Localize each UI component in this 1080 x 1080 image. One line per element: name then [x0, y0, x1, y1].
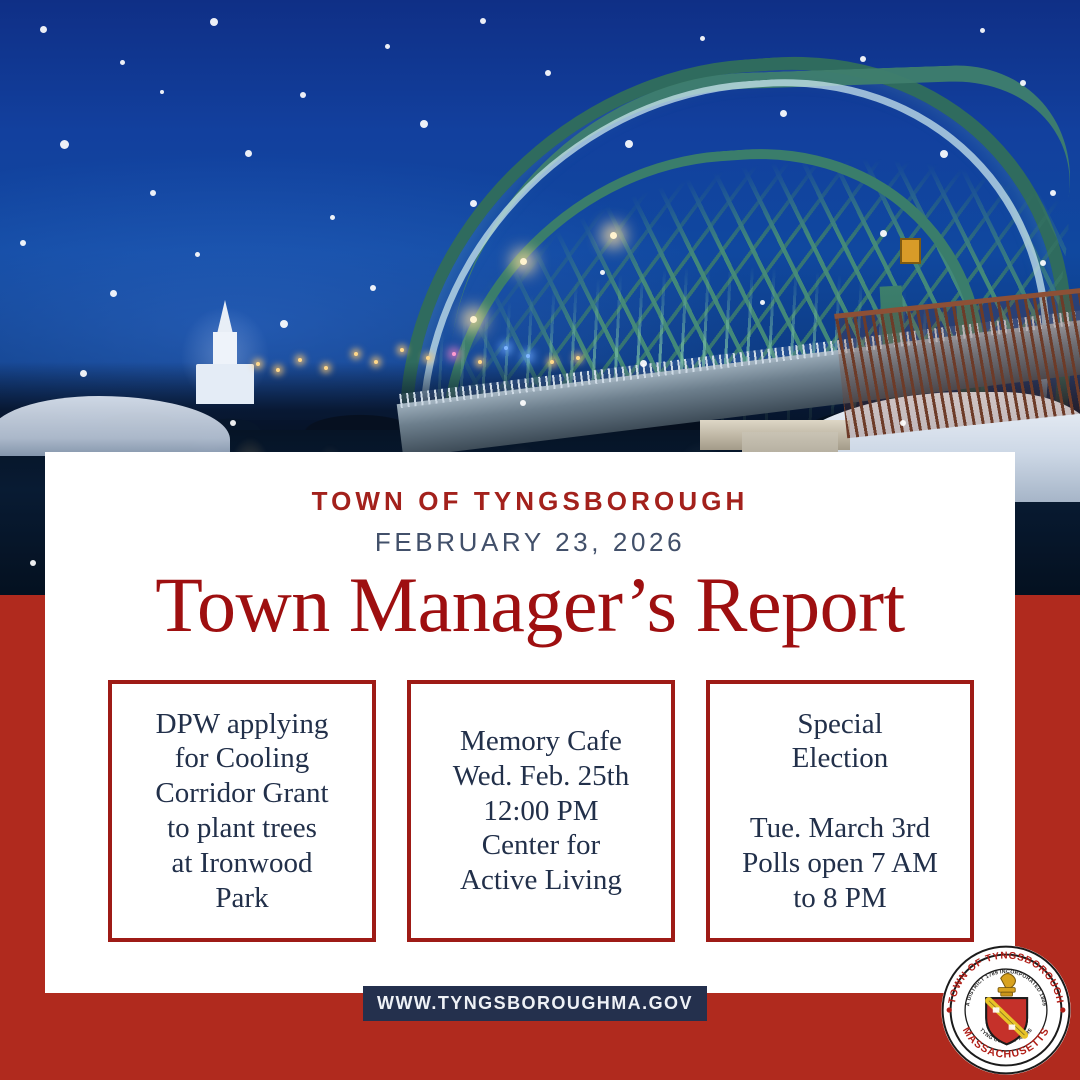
town-seal-logo: TOWN OF TYNGSBOROUGH MASSACHUSETTS A DIS…: [940, 944, 1072, 1076]
website-url-bar[interactable]: WWW.TYNGSBOROUGHMA.GOV: [363, 986, 707, 1021]
report-date: FEBRUARY 23, 2026: [45, 517, 1015, 558]
website-url-text: WWW.TYNGSBOROUGHMA.GOV: [377, 993, 693, 1014]
highlight-boxes: DPW applying for Cooling Corridor Grant …: [108, 680, 974, 942]
page-title: Town Manager’s Report: [45, 558, 1015, 646]
bridge-lamp-2: [470, 316, 477, 323]
highlight-box-text: Special Election Tue. March 3rd Polls op…: [742, 707, 938, 916]
highlight-box-memory-cafe[interactable]: Memory Cafe Wed. Feb. 25th 12:00 PM Cent…: [407, 680, 675, 942]
highlight-box-special-election[interactable]: Special Election Tue. March 3rd Polls op…: [706, 680, 974, 942]
highlight-box-text: DPW applying for Cooling Corridor Grant …: [155, 707, 328, 916]
bridge-lamp-3: [610, 232, 617, 239]
roadside-guardrail: [834, 287, 1080, 438]
highlight-box-text: Memory Cafe Wed. Feb. 25th 12:00 PM Cent…: [453, 724, 629, 898]
church-body: [196, 364, 254, 404]
church-spire: [217, 300, 233, 334]
content-card: TOWN OF TYNGSBOROUGH FEBRUARY 23, 2026 T…: [45, 452, 1015, 993]
bridge-lamp-1: [520, 258, 527, 265]
bridge-sign-icon: [900, 238, 921, 264]
poster-canvas: TOWN OF TYNGSBOROUGH FEBRUARY 23, 2026 T…: [0, 0, 1080, 1080]
town-lights: [250, 330, 610, 376]
town-name-label: TOWN OF TYNGSBOROUGH: [45, 452, 1015, 517]
highlight-box-dpw[interactable]: DPW applying for Cooling Corridor Grant …: [108, 680, 376, 942]
